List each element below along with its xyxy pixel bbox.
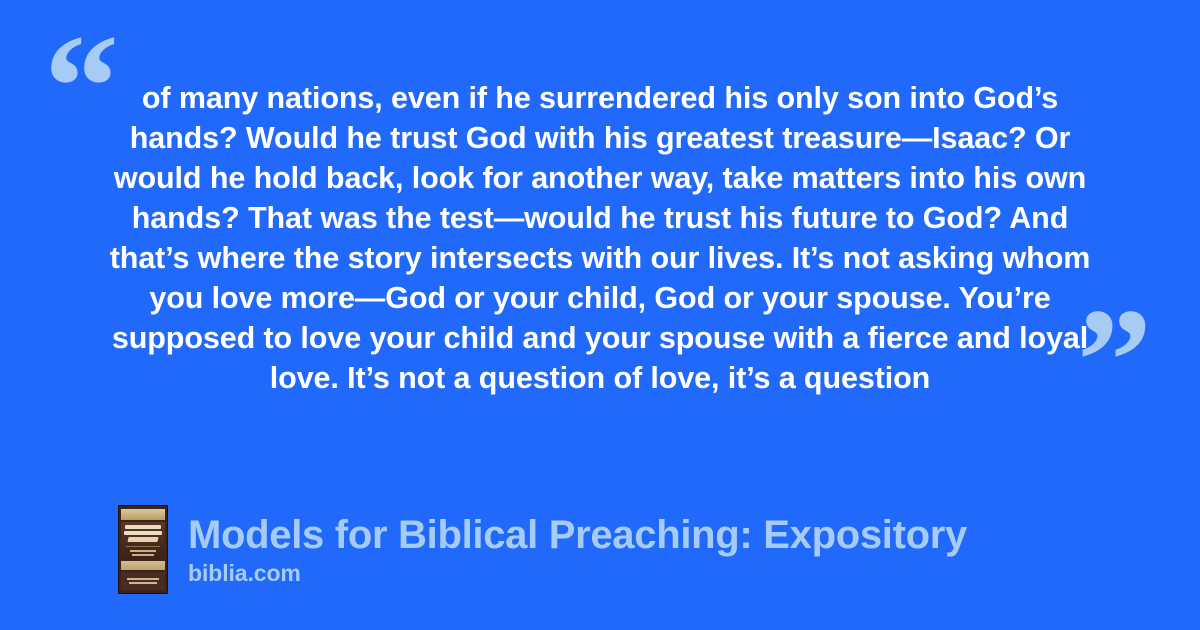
quote-card: “ of many nations, even if he surrendere…: [0, 0, 1200, 630]
book-cover-top-band: [121, 509, 165, 520]
book-cover-author-block: [121, 572, 165, 590]
book-cover-title-block: [121, 522, 165, 559]
book-cover-title-line-3: [127, 537, 158, 542]
closing-quote-mark: ”: [1077, 286, 1152, 436]
site-url[interactable]: biblia.com: [188, 559, 967, 587]
footer-text-block: Models for Biblical Preaching: Expositor…: [188, 512, 967, 587]
footer-attribution: Models for Biblical Preaching: Expositor…: [118, 505, 967, 594]
book-title: Models for Biblical Preaching: Expositor…: [188, 512, 967, 558]
book-cover-bottom-band: [121, 561, 165, 570]
book-cover-thumbnail: [118, 505, 168, 594]
quote-text: of many nations, even if he surrendered …: [100, 78, 1100, 398]
book-cover-author-line-1: [127, 578, 159, 580]
book-cover-subtitle-line-1: [130, 550, 156, 552]
book-cover-author-line-2: [129, 582, 157, 584]
book-cover-title-line-2: [124, 531, 162, 535]
book-cover-subtitle-line-2: [132, 554, 154, 556]
book-cover-rule: [126, 546, 160, 547]
book-cover-title-line-1: [125, 525, 161, 529]
